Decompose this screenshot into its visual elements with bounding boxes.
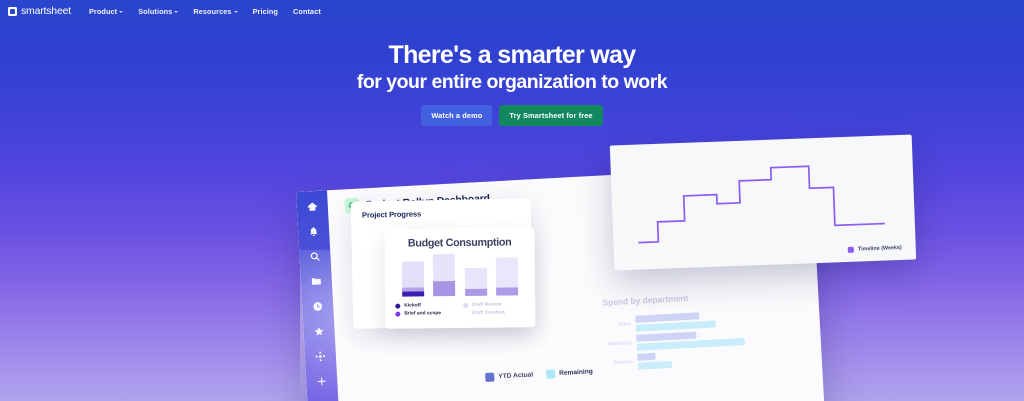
hero-subheadline: for your entire organization to work — [0, 70, 1024, 94]
legend-label: Draft Creation — [472, 311, 505, 316]
legend-dot — [463, 303, 468, 308]
nav-item-contact-label: Contact — [293, 7, 321, 16]
nav-item-resources-label: Resources — [193, 7, 231, 16]
watch-demo-button[interactable]: Watch a demo — [421, 105, 492, 126]
legend-column-right: Draft Review Draft Creation — [463, 303, 505, 316]
bar-segment-draft-creation — [496, 257, 518, 287]
legend-item-kickoff: Kickoff — [395, 303, 441, 308]
dept-label: Sales — [590, 321, 636, 329]
legend-label: Brief and scope — [404, 311, 441, 316]
legend-label: YTD Actual — [498, 371, 533, 380]
legend-dot — [395, 304, 400, 309]
dept-bars — [636, 329, 745, 351]
bar-group — [433, 254, 455, 296]
search-icon[interactable] — [309, 251, 321, 263]
ytd-actual-bar — [637, 353, 655, 361]
top-navigation-bar: smartsheet Product Solutions Resources P… — [0, 0, 1024, 22]
budget-chart-legend: Kickoff Brief and scope Draft Review Dra… — [385, 295, 535, 317]
nav-item-product-label: Product — [89, 7, 117, 16]
spend-by-department-chart: Spend by department Sales Marketing — [588, 286, 822, 375]
legend-dot — [395, 312, 400, 317]
bar-segment-draft-creation — [402, 261, 424, 287]
remaining-bar — [638, 361, 672, 370]
hero-headline: There's a smarter way — [0, 42, 1024, 69]
budget-consumption-card: Budget Consumption — [384, 227, 535, 329]
legend-label: Kickoff — [404, 303, 421, 308]
legend-column-left: Kickoff Brief and scope — [395, 303, 441, 316]
legend-item-draft-review: Draft Review — [463, 303, 505, 308]
legend-dot — [463, 311, 468, 316]
smartsheet-logo-icon — [8, 7, 17, 16]
legend-swatch — [485, 373, 494, 382]
nav-links: Product Solutions Resources Pricing Cont… — [89, 7, 321, 16]
smartsheet-logo[interactable]: smartsheet — [8, 5, 71, 17]
legend-label: Remaining — [559, 368, 593, 377]
spend-chart-title: Spend by department — [588, 286, 818, 308]
chevron-down-icon — [234, 11, 238, 13]
try-smartsheet-free-button[interactable]: Try Smartsheet for free — [499, 105, 602, 126]
nav-item-contact[interactable]: Contact — [293, 7, 321, 16]
brand-name: smartsheet — [21, 5, 71, 17]
nav-item-resources[interactable]: Resources — [193, 7, 237, 16]
dept-label: Finance — [592, 359, 638, 367]
clock-icon[interactable] — [312, 301, 324, 313]
dept-bars — [635, 312, 716, 332]
bar-group — [496, 253, 518, 295]
legend-item-draft-creation: Draft Creation — [463, 311, 505, 316]
hero-page: smartsheet Product Solutions Resources P… — [0, 0, 1024, 401]
legend-item-ytd-actual: YTD Actual — [485, 370, 533, 382]
chevron-down-icon — [119, 11, 123, 13]
legend-label: Draft Review — [472, 303, 502, 308]
solutions-icon[interactable] — [315, 351, 327, 363]
bar-group — [464, 254, 486, 296]
dept-bars — [637, 352, 672, 370]
legend-swatch — [848, 247, 854, 253]
nav-item-product[interactable]: Product — [89, 7, 123, 16]
bar-segment-draft-creation — [433, 254, 455, 281]
bell-icon[interactable] — [308, 226, 320, 238]
legend-item-brief-and-scope: Brief and scope — [395, 311, 441, 316]
legend-item-remaining: Remaining — [546, 367, 593, 379]
timeline-chart-card: Timeline (Weeks) — [610, 135, 916, 271]
chevron-down-icon — [174, 11, 178, 13]
card-title: Project Progress — [351, 198, 531, 220]
nav-item-solutions[interactable]: Solutions — [138, 7, 178, 16]
hero-section: There's a smarter way for your entire or… — [0, 42, 1024, 126]
plus-icon[interactable] — [316, 376, 328, 388]
star-icon[interactable] — [313, 326, 325, 338]
bar-group — [402, 254, 424, 296]
hero-cta-group: Watch a demo Try Smartsheet for free — [0, 105, 1024, 126]
bar-segment-draft-creation — [465, 268, 487, 289]
nav-item-solutions-label: Solutions — [138, 7, 172, 16]
bar-segment-brief-scope — [496, 287, 518, 295]
budget-bar-chart — [385, 253, 535, 297]
nav-item-pricing-label: Pricing — [253, 7, 278, 16]
card-title: Budget Consumption — [384, 227, 534, 250]
bar-segment-brief-scope — [433, 281, 455, 296]
bar-segment-brief-scope — [465, 289, 487, 296]
home-icon[interactable] — [307, 201, 319, 213]
dept-label: Marketing — [591, 340, 637, 348]
bar-segment-kickoff — [402, 291, 424, 296]
legend-swatch — [546, 369, 555, 378]
spend-chart-legend: YTD Actual Remaining — [485, 367, 593, 382]
nav-item-pricing[interactable]: Pricing — [253, 7, 278, 16]
folder-icon[interactable] — [311, 276, 323, 288]
